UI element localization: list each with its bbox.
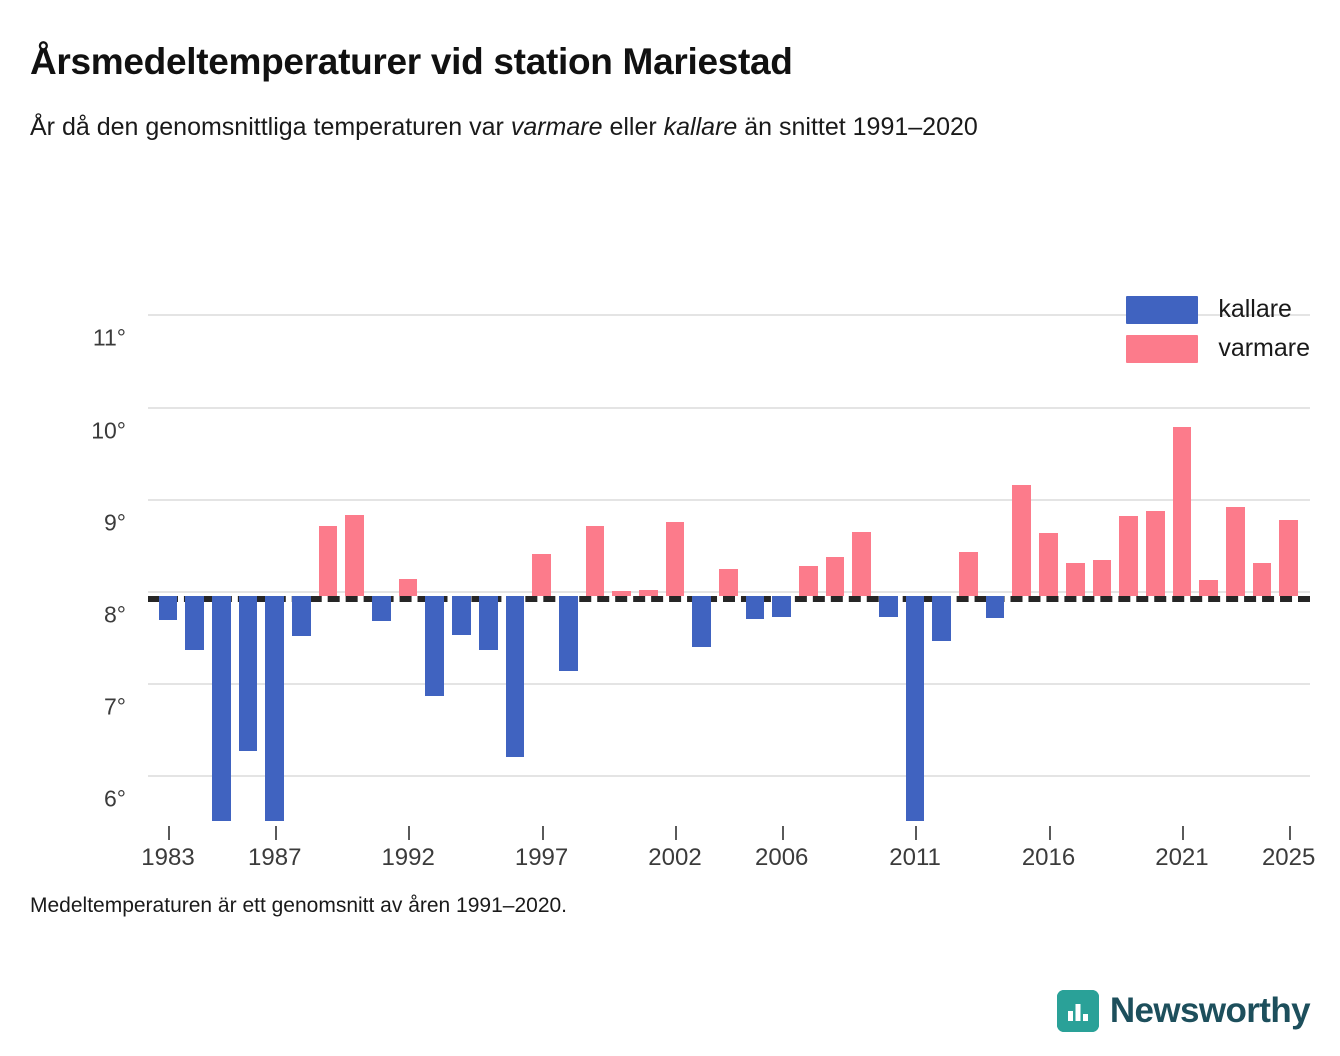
page-subtitle: År då den genomsnittliga temperaturen va…: [30, 83, 1250, 144]
bar-2003[interactable]: [692, 596, 711, 648]
x-tick-2011: [915, 826, 917, 840]
bar-2017[interactable]: [1066, 563, 1085, 595]
bar-2002[interactable]: [666, 522, 685, 596]
x-tick-2006: [782, 826, 784, 840]
x-tick-label-2016: 2016: [1022, 844, 1075, 872]
x-tick-1997: [542, 826, 544, 840]
bar-1985[interactable]: [212, 596, 231, 822]
bar-1994[interactable]: [452, 596, 471, 636]
chart-page: Årsmedeltemperaturer vid station Mariest…: [0, 0, 1340, 1056]
x-tick-2021: [1182, 826, 1184, 840]
x-tick-label-2011: 2011: [889, 844, 941, 872]
page-title: Årsmedeltemperaturer vid station Mariest…: [30, 0, 1310, 83]
bar-2018[interactable]: [1093, 560, 1112, 596]
x-tick-label-2021: 2021: [1155, 844, 1208, 872]
y-tick-label-11: 11°: [52, 325, 126, 352]
bar-1990[interactable]: [345, 515, 364, 595]
bar-2024[interactable]: [1253, 563, 1272, 595]
bar-1997[interactable]: [532, 554, 551, 595]
bar-2016[interactable]: [1039, 533, 1058, 596]
bar-1983[interactable]: [159, 596, 178, 621]
bar-2022[interactable]: [1199, 580, 1218, 596]
subtitle-part-c: än snittet 1991–2020: [737, 113, 977, 141]
bar-2019[interactable]: [1119, 516, 1138, 595]
y-tick-label-9: 9°: [52, 509, 126, 536]
y-tick-label-6: 6°: [52, 786, 126, 813]
bar-2010[interactable]: [879, 596, 898, 617]
bar-1998[interactable]: [559, 596, 578, 672]
x-tick-label-1997: 1997: [515, 844, 568, 872]
y-tick-label-8: 8°: [52, 601, 126, 628]
bar-1984[interactable]: [185, 596, 204, 650]
x-tick-label-2025: 2025: [1262, 844, 1315, 872]
bar-2025[interactable]: [1279, 520, 1298, 596]
bar-2014[interactable]: [986, 596, 1005, 618]
subtitle-emphasis-kallare: kallare: [664, 113, 738, 141]
bar-1995[interactable]: [479, 596, 498, 650]
bar-2006[interactable]: [772, 596, 791, 617]
bar-2012[interactable]: [932, 596, 951, 641]
subtitle-part-b: eller: [603, 113, 664, 141]
x-tick-1992: [408, 826, 410, 840]
y-tick-label-7: 7°: [52, 694, 126, 721]
legend-swatch-kallare: [1126, 296, 1198, 324]
bar-2023[interactable]: [1226, 507, 1245, 595]
bar-2013[interactable]: [959, 552, 978, 595]
bar-2011[interactable]: [906, 596, 925, 822]
x-axis: 1983198719921997200220062011201620212025: [148, 826, 1310, 886]
chart-legend: kallare varmare: [1126, 295, 1310, 363]
brand-name: Newsworthy: [1110, 991, 1310, 1031]
x-tick-1987: [275, 826, 277, 840]
subtitle-part-a: År då den genomsnittliga temperaturen va…: [30, 113, 511, 141]
chart-container: 6°7°8°9°10°11° 1983198719921997200220062…: [30, 272, 1310, 872]
x-tick-2002: [675, 826, 677, 840]
bar-1993[interactable]: [425, 596, 444, 696]
chart-footnote: Medeltemperaturen är ett genomsnitt av å…: [30, 894, 567, 918]
bar-1986[interactable]: [239, 596, 258, 752]
x-tick-2016: [1049, 826, 1051, 840]
bar-2020[interactable]: [1146, 511, 1165, 596]
legend-label-varmare: varmare: [1218, 334, 1310, 363]
subtitle-emphasis-varmare: varmare: [511, 113, 603, 141]
x-tick-label-1987: 1987: [248, 844, 301, 872]
x-tick-label-1992: 1992: [381, 844, 434, 872]
bar-2004[interactable]: [719, 569, 738, 596]
bar-1988[interactable]: [292, 596, 311, 637]
legend-label-kallare: kallare: [1218, 295, 1292, 324]
bar-2007[interactable]: [799, 566, 818, 595]
bar-chart-icon: [1057, 990, 1099, 1032]
bar-2000[interactable]: [612, 591, 631, 596]
newsworthy-brand[interactable]: Newsworthy: [1057, 990, 1310, 1032]
legend-item-kallare[interactable]: kallare: [1126, 295, 1310, 324]
x-tick-1983: [168, 826, 170, 840]
x-tick-label-2002: 2002: [648, 844, 701, 872]
plot-area: [148, 296, 1310, 826]
bar-1996[interactable]: [506, 596, 525, 757]
bar-1999[interactable]: [586, 526, 605, 595]
y-tick-label-10: 10°: [52, 417, 126, 444]
legend-swatch-varmare: [1126, 335, 1198, 363]
bar-1989[interactable]: [319, 526, 338, 596]
bar-2021[interactable]: [1173, 427, 1192, 596]
bar-1992[interactable]: [399, 579, 418, 596]
bar-2005[interactable]: [746, 596, 765, 619]
x-tick-label-2006: 2006: [755, 844, 808, 872]
bar-2001[interactable]: [639, 590, 658, 596]
bar-2015[interactable]: [1012, 485, 1031, 596]
bar-2008[interactable]: [826, 557, 845, 596]
y-axis-labels: 6°7°8°9°10°11°: [30, 296, 126, 826]
bar-2009[interactable]: [852, 532, 871, 596]
bar-1991[interactable]: [372, 596, 391, 622]
x-tick-2025: [1289, 826, 1291, 840]
bar-series: [148, 296, 1310, 826]
bar-1987[interactable]: [265, 596, 284, 822]
x-tick-label-1983: 1983: [141, 844, 194, 872]
legend-item-varmare[interactable]: varmare: [1126, 334, 1310, 363]
